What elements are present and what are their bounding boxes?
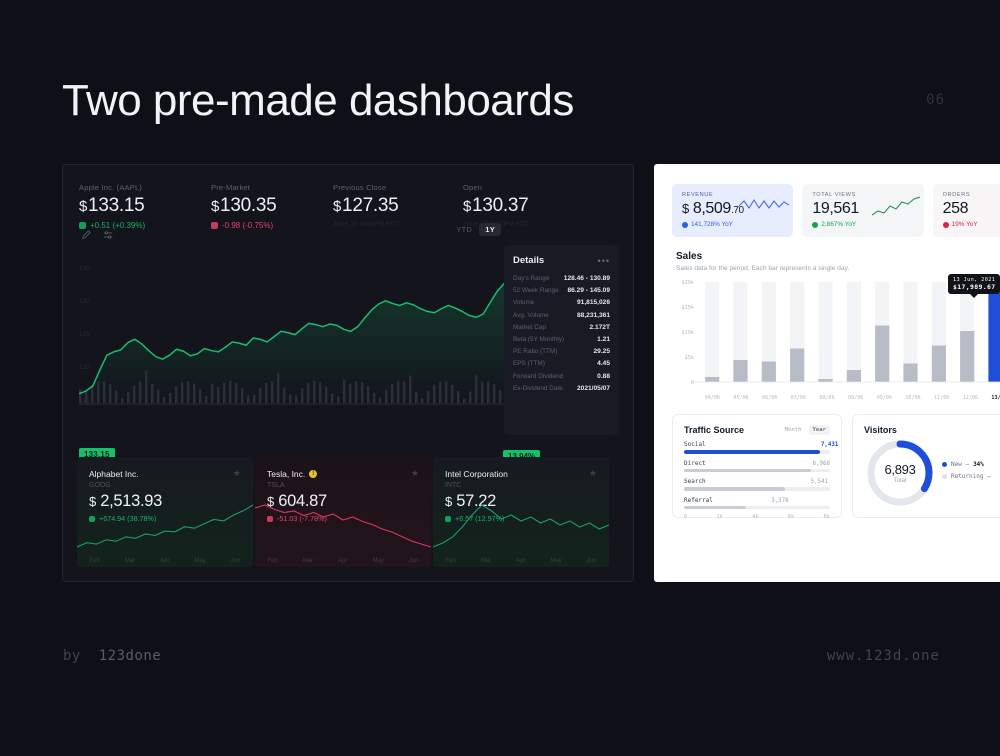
kpi-change-value: 141,728% YoY xyxy=(691,221,733,228)
legend-label-returning: Returning — xyxy=(951,473,991,480)
traffic-period-toggle[interactable]: Month Year xyxy=(781,425,830,435)
traffic-value: 5,541 xyxy=(811,479,828,485)
sales-description: Sales data for the period. Each bar repr… xyxy=(676,265,1000,272)
traffic-label: Direct xyxy=(684,460,706,467)
kpi-change: 141,728% YoY xyxy=(682,221,783,228)
sales-x-tick: 09/06 xyxy=(870,395,899,401)
month-label: May xyxy=(194,558,205,564)
details-row-value: 88,231,361 xyxy=(577,312,610,319)
range-1y-button[interactable]: 1Y xyxy=(479,223,501,236)
traffic-source-header: Traffic Source Month Year xyxy=(684,425,830,435)
sales-x-tick: 04/06 xyxy=(698,395,727,401)
star-icon[interactable]: ★ xyxy=(411,468,419,479)
sales-bar[interactable] xyxy=(818,379,832,382)
traffic-bar-track xyxy=(684,487,830,491)
traffic-row: Search5,541 xyxy=(684,478,830,491)
details-row-value: 91,815,026 xyxy=(577,299,610,306)
sales-bar-background xyxy=(705,282,719,382)
trend-up-icon xyxy=(812,222,818,228)
tab-month[interactable]: Month xyxy=(781,425,806,435)
more-horizontal-icon[interactable]: ••• xyxy=(598,256,610,266)
stock-name-label: Tesla, Inc. xyxy=(267,469,305,479)
traffic-value: 7,431 xyxy=(821,442,838,448)
sales-bar-background xyxy=(818,282,832,382)
quote-price-value: 127.35 xyxy=(342,195,398,216)
traffic-row-line: Direct6,968 xyxy=(684,460,830,467)
sales-title: Sales xyxy=(676,251,1000,262)
details-row-key: Ex-Dividend Date xyxy=(513,385,563,392)
star-icon[interactable]: ★ xyxy=(589,468,597,479)
quote-label: Pre-Market xyxy=(211,183,333,192)
kpi-label: ORDERS xyxy=(943,192,1000,198)
traffic-label: Social xyxy=(684,441,706,448)
kpi-card-total-views[interactable]: TOTAL VIEWS 19,561 2,867% YoY xyxy=(802,184,923,237)
stock-month-axis: FebMarAprMayJun xyxy=(77,558,253,564)
stock-symbol: INTC xyxy=(445,482,597,489)
x-tick-8k: 8k xyxy=(824,514,831,520)
footer-brand: 123done xyxy=(99,648,162,664)
quote-previous-close: Previous Close $127.35 June 16 4:00PM ED… xyxy=(333,183,463,230)
quote-price-value: 133.15 xyxy=(88,195,144,216)
legend-label-new: New — xyxy=(951,461,969,468)
range-ytd-button[interactable]: YTD xyxy=(456,225,472,234)
traffic-bar-fill xyxy=(684,450,820,454)
stock-card-header: Intel Corporation★ xyxy=(445,468,597,479)
warning-icon[interactable]: ! xyxy=(309,470,317,478)
quote-timestamp: June 16 4:00PM EDT xyxy=(333,221,463,228)
details-row-key: 52 Week Range xyxy=(513,287,559,294)
month-label: Apr xyxy=(516,558,525,564)
sales-x-tick: 07/06 xyxy=(784,395,813,401)
traffic-row: Direct6,968 xyxy=(684,460,830,473)
traffic-row-line: Search5,541 xyxy=(684,478,830,485)
stock-name: Alphabet Inc. xyxy=(89,469,139,479)
month-label: Feb xyxy=(267,558,277,564)
trend-down-icon xyxy=(211,222,218,229)
stock-name-label: Alphabet Inc. xyxy=(89,469,139,479)
details-row-key: Beta (5Y Monthly) xyxy=(513,336,564,343)
kpi-row: REVENUE $ 8,509.70 141,728% YoY TOTAL VI… xyxy=(654,164,1000,237)
details-row-value: 128.46 - 130.89 xyxy=(564,275,610,282)
quote-price: $127.35 xyxy=(333,195,463,217)
currency-symbol: $ xyxy=(333,198,341,215)
details-title: Details xyxy=(513,255,544,266)
kpi-change: 2,867% YoY xyxy=(812,221,913,228)
quote-delta-value: -0.98 (-0.75%) xyxy=(222,221,273,230)
star-icon[interactable]: ★ xyxy=(233,468,241,479)
visitors-panel: Visitors 6,893 Total xyxy=(852,414,1000,518)
kpi-value-int: 8,509 xyxy=(693,200,731,217)
kpi-sparkline xyxy=(739,196,789,214)
traffic-bar-fill xyxy=(684,487,785,491)
currency-symbol: $ xyxy=(79,198,87,215)
stock-sparkline xyxy=(255,497,431,553)
sales-bar[interactable] xyxy=(705,377,719,382)
stock-card[interactable]: Alphabet Inc.★GOOG$ 2,513.93+674.94 (38.… xyxy=(77,457,253,567)
month-label: Jun xyxy=(587,558,597,564)
chart-range-toggle[interactable]: YTD 1Y xyxy=(456,223,501,236)
sales-y-tick: $20k xyxy=(682,280,695,286)
details-row: Ex-Dividend Date2021/05/07 xyxy=(513,385,610,392)
sales-header: Sales Sales data for the period. Each ba… xyxy=(654,237,1000,272)
x-tick-2k: 2k xyxy=(716,514,723,520)
details-row-value: 0.88 xyxy=(597,373,610,380)
traffic-source-title: Traffic Source xyxy=(684,425,744,435)
quote-label: Previous Close xyxy=(333,183,463,192)
quote-label: Open xyxy=(463,183,583,192)
x-tick-4k: 4k xyxy=(752,514,759,520)
visitors-title: Visitors xyxy=(864,425,1000,435)
tooltip-value: $17,989.67 xyxy=(953,283,995,291)
traffic-x-axis: 0 2k 4k 6k 8k xyxy=(684,514,830,520)
details-panel: Details ••• Day's Range128.46 - 130.8952… xyxy=(504,245,619,435)
details-row: Day's Range128.46 - 130.89 xyxy=(513,275,610,282)
quote-price: $133.15 xyxy=(79,195,211,217)
stock-name: Intel Corporation xyxy=(445,469,508,479)
x-tick-0: 0 xyxy=(684,514,687,520)
stock-month-axis: FebMarAprMayJun xyxy=(433,558,609,564)
stock-month-axis: FebMarAprMayJun xyxy=(255,558,431,564)
details-row: Market Cap2.172T xyxy=(513,324,610,331)
month-label: Feb xyxy=(89,558,99,564)
details-row-key: Forward Dividend xyxy=(513,373,563,380)
sales-y-tick: 0 xyxy=(691,380,694,386)
visitors-legend: New — 34% Returning — xyxy=(942,461,995,485)
month-label: Feb xyxy=(445,558,455,564)
stock-card-list: Alphabet Inc.★GOOG$ 2,513.93+674.94 (38.… xyxy=(63,457,623,581)
details-row-value: 1.21 xyxy=(597,336,610,343)
traffic-row: Referral3,378 xyxy=(684,497,830,510)
kpi-change-value: 2,867% YoY xyxy=(821,221,856,228)
trend-down-icon xyxy=(943,222,949,228)
sales-bar[interactable] xyxy=(790,349,804,383)
stock-symbol: TSLA xyxy=(267,482,419,489)
kpi-value: 258 xyxy=(943,200,1000,218)
kpi-change: 19% YoY xyxy=(943,221,1000,228)
details-row-key: EPS (TTM) xyxy=(513,360,545,367)
traffic-row-line: Referral3,378 xyxy=(684,497,830,504)
sales-x-tick: 06/06 xyxy=(755,395,784,401)
stock-card[interactable]: Intel Corporation★INTC$ 57.22+6.57 (12.9… xyxy=(433,457,609,567)
sales-bar[interactable] xyxy=(988,292,1000,382)
traffic-bar-track xyxy=(684,469,830,473)
month-label: Jun xyxy=(231,558,241,564)
legend-item-new: New — 34% xyxy=(942,461,995,468)
traffic-bar-fill xyxy=(684,506,746,510)
month-label: May xyxy=(372,558,383,564)
page-title: Two pre-made dashboards xyxy=(62,76,574,127)
page-number: 06 xyxy=(926,92,945,108)
sales-bar-chart[interactable]: 0$5k$10k$15k$20k 04/0605/0606/0607/0608/… xyxy=(672,278,1000,406)
details-row: PE Ratio (TTM)29.25 xyxy=(513,348,610,355)
footer-by-label: by xyxy=(63,648,81,664)
trend-up-icon xyxy=(682,222,688,228)
visitors-donut-wrap: 6,893 Total New — 34% Returning — xyxy=(864,437,1000,509)
dark-dashboard-top: Apple Inc. (AAPL) $133.15 +0.51 (+0.39%)… xyxy=(63,165,633,420)
quote-row: Apple Inc. (AAPL) $133.15 +0.51 (+0.39%)… xyxy=(79,183,617,230)
legend-item-returning: Returning — xyxy=(942,473,995,480)
sales-bar[interactable] xyxy=(733,360,747,382)
stock-sparkline xyxy=(77,497,253,553)
details-row-value: 29.25 xyxy=(593,348,610,355)
traffic-value: 6,968 xyxy=(813,461,830,467)
details-row: EPS (TTM)4.45 xyxy=(513,360,610,367)
quote-price-value: 130.37 xyxy=(472,195,528,216)
details-header: Details ••• xyxy=(513,255,610,266)
bottom-panels: Traffic Source Month Year Social7,431Dir… xyxy=(654,406,1000,518)
quote-price: $130.37 xyxy=(463,195,583,217)
dark-dashboard: Apple Inc. (AAPL) $133.15 +0.51 (+0.39%)… xyxy=(62,164,634,582)
tab-year[interactable]: Year xyxy=(809,425,830,435)
traffic-row: Social7,431 xyxy=(684,441,830,454)
details-rows: Day's Range128.46 - 130.8952 Week Range8… xyxy=(513,275,610,392)
month-label: Apr xyxy=(160,558,169,564)
chart-toolbar xyxy=(81,227,113,245)
legend-value-new: 34% xyxy=(973,461,984,468)
visitors-total: 6,893 xyxy=(884,462,915,477)
details-row-key: Avg. Volume xyxy=(513,312,549,319)
traffic-value: 3,378 xyxy=(771,498,788,504)
legend-dot-new xyxy=(942,462,947,467)
slide: Two pre-made dashboards 06 by 123done ww… xyxy=(0,0,1000,756)
sales-x-tick: 13/06 xyxy=(985,395,1000,401)
quote-aapl: Apple Inc. (AAPL) $133.15 +0.51 (+0.39%) xyxy=(79,183,211,230)
month-label: Jun xyxy=(409,558,419,564)
sales-bar[interactable] xyxy=(960,331,974,382)
kpi-change-value: 19% YoY xyxy=(952,221,978,228)
kpi-value-int: 19,561 xyxy=(812,200,859,217)
kpi-card-revenue[interactable]: REVENUE $ 8,509.70 141,728% YoY xyxy=(672,184,793,237)
quote-premarket: Pre-Market $130.35 -0.98 (-0.75%) xyxy=(211,183,333,230)
price-line-chart[interactable] xyxy=(79,247,511,407)
currency-symbol: $ xyxy=(211,198,219,215)
details-row: Forward Dividend0.88 xyxy=(513,373,610,380)
traffic-label: Referral xyxy=(684,497,730,504)
stock-name-label: Intel Corporation xyxy=(445,469,508,479)
sales-bar[interactable] xyxy=(762,362,776,383)
traffic-row-line: Social7,431 xyxy=(684,441,830,448)
traffic-label: Search xyxy=(684,478,730,485)
month-label: Apr xyxy=(338,558,347,564)
sales-bar[interactable] xyxy=(847,370,861,382)
traffic-bar-track xyxy=(684,506,830,510)
sliders-icon[interactable] xyxy=(103,227,113,245)
visitors-total-label: Total xyxy=(894,478,907,484)
details-row-key: Volume xyxy=(513,299,534,306)
x-tick-6k: 6k xyxy=(788,514,795,520)
sales-y-tick: $5k xyxy=(685,355,695,361)
sales-bar[interactable] xyxy=(932,346,946,383)
tooltip-arrow xyxy=(970,294,978,298)
sales-bar[interactable] xyxy=(903,364,917,383)
donut-center: 6,893 Total xyxy=(864,437,936,509)
legend-dot-returning xyxy=(942,474,947,479)
traffic-bar-fill xyxy=(684,469,811,473)
traffic-rows: Social7,431Direct6,968Search5,541Referra… xyxy=(684,441,830,509)
sales-x-tick: 08/06 xyxy=(841,395,870,401)
month-label: Mar xyxy=(303,558,313,564)
currency-symbol: $ xyxy=(682,201,689,216)
month-label: Mar xyxy=(125,558,135,564)
stock-symbol: GOOG xyxy=(89,482,241,489)
sales-bar[interactable] xyxy=(875,326,889,383)
sales-x-tick: 12/06 xyxy=(956,395,985,401)
details-row: 52 Week Range86.29 - 145.09 xyxy=(513,287,610,294)
details-row: Beta (5Y Monthly)1.21 xyxy=(513,336,610,343)
kpi-value-int: 258 xyxy=(943,200,969,217)
pencil-icon[interactable] xyxy=(81,227,91,245)
stock-card-header: Alphabet Inc.★ xyxy=(89,468,241,479)
traffic-source-panel: Traffic Source Month Year Social7,431Dir… xyxy=(672,414,842,518)
quote-price: $130.35 xyxy=(211,195,333,217)
stock-card-header: Tesla, Inc.!★ xyxy=(267,468,419,479)
stock-sparkline xyxy=(433,497,609,553)
details-row-value: 2.172T xyxy=(589,324,610,331)
kpi-sparkline xyxy=(872,196,920,218)
details-row-value: 2021/05/07 xyxy=(577,385,610,392)
traffic-bar-track xyxy=(684,450,830,454)
month-label: Mar xyxy=(481,558,491,564)
kpi-card-orders[interactable]: ORDERS 258 19% YoY xyxy=(933,184,1000,237)
sales-y-tick: $10k xyxy=(682,330,695,336)
sales-tooltip: 13 Jun, 2021 $17,989.67 xyxy=(948,274,1000,294)
footer-url: www.123d.one xyxy=(827,648,940,664)
sales-x-tick: 11/06 xyxy=(927,395,956,401)
footer-credit: by 123done xyxy=(63,648,161,664)
currency-symbol: $ xyxy=(463,198,471,215)
sales-x-tick: 05/06 xyxy=(727,395,756,401)
stock-card[interactable]: Tesla, Inc.!★TSLA$ 604.87-51.03 (-7.78%)… xyxy=(255,457,431,567)
details-row: Avg. Volume88,231,361 xyxy=(513,312,610,319)
sales-bar-background xyxy=(847,282,861,382)
details-row-key: PE Ratio (TTM) xyxy=(513,348,557,355)
light-dashboard: REVENUE $ 8,509.70 141,728% YoY TOTAL VI… xyxy=(654,164,1000,582)
details-row-key: Day's Range xyxy=(513,275,549,282)
details-row-value: 86.29 - 145.09 xyxy=(567,287,610,294)
details-row-value: 4.45 xyxy=(597,360,610,367)
stock-name: Tesla, Inc.! xyxy=(267,469,317,479)
sales-y-tick: $15k xyxy=(682,305,695,311)
quote-label: Apple Inc. (AAPL) xyxy=(79,183,211,192)
sales-bars[interactable]: 0$5k$10k$15k$20k xyxy=(672,278,1000,390)
sales-x-tick: 10/06 xyxy=(899,395,928,401)
sales-x-axis: 04/0605/0606/0607/0608/0608/0609/0610/06… xyxy=(698,395,1000,401)
details-row: Volume91,815,026 xyxy=(513,299,610,306)
quote-delta: -0.98 (-0.75%) xyxy=(211,221,333,230)
visitors-donut[interactable]: 6,893 Total xyxy=(864,437,936,509)
quote-price-value: 130.35 xyxy=(220,195,276,216)
month-label: May xyxy=(550,558,561,564)
details-row-key: Market Cap xyxy=(513,324,546,331)
sales-x-tick: 08/06 xyxy=(813,395,842,401)
